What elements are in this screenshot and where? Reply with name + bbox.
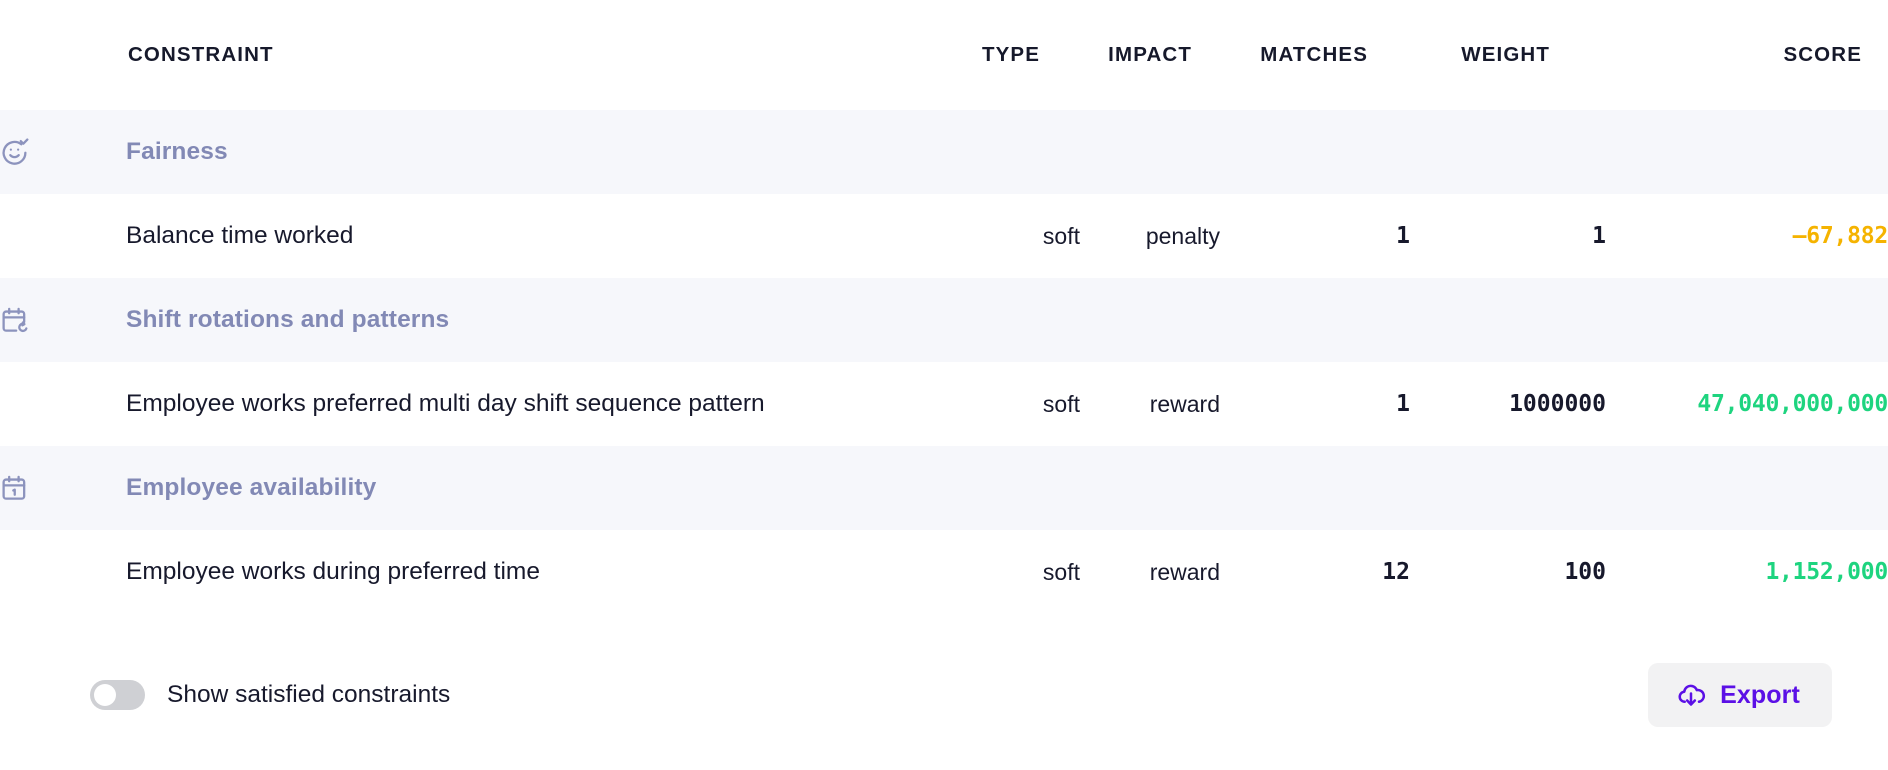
- table-body: Fairness Balance time worked soft penalt…: [0, 110, 1888, 614]
- constraint-table: CONSTRAINT TYPE IMPACT MATCHES WEIGHT SC…: [0, 0, 1888, 614]
- group-label: Fairness: [126, 138, 228, 165]
- export-button-label: Export: [1720, 681, 1800, 710]
- column-header-type[interactable]: TYPE: [948, 0, 1080, 110]
- header-spacer: [0, 0, 126, 110]
- constraint-weight: 1: [1410, 194, 1606, 278]
- column-header-constraint[interactable]: CONSTRAINT: [126, 0, 948, 110]
- column-header-impact[interactable]: IMPACT: [1080, 0, 1220, 110]
- row-indent: [0, 530, 126, 614]
- constraint-name: Employee works preferred multi day shift…: [126, 362, 948, 446]
- constraint-type: soft: [948, 530, 1080, 614]
- toggle-knob: [94, 684, 116, 706]
- table-header: CONSTRAINT TYPE IMPACT MATCHES WEIGHT SC…: [0, 0, 1888, 110]
- constraint-score: 47,040,000,000: [1606, 362, 1888, 446]
- table-row[interactable]: Balance time worked soft penalty 1 1 –67…: [0, 194, 1888, 278]
- constraint-type: soft: [948, 194, 1080, 278]
- table-row[interactable]: Employee works preferred multi day shift…: [0, 362, 1888, 446]
- constraint-weight: 1000000: [1410, 362, 1606, 446]
- column-header-weight[interactable]: WEIGHT: [1410, 0, 1606, 110]
- column-header-score[interactable]: SCORE: [1606, 0, 1888, 110]
- constraint-weight: 100: [1410, 530, 1606, 614]
- constraint-score: 1,152,000: [1606, 530, 1888, 614]
- constraint-analysis-panel: CONSTRAINT TYPE IMPACT MATCHES WEIGHT SC…: [0, 0, 1888, 770]
- constraint-score: –67,882: [1606, 194, 1888, 278]
- calendar-sync-icon: [0, 306, 29, 335]
- group-icon-cell: [0, 278, 126, 362]
- group-icon-cell: [0, 446, 126, 530]
- table-header-row: CONSTRAINT TYPE IMPACT MATCHES WEIGHT SC…: [0, 0, 1888, 110]
- constraint-impact: reward: [1080, 362, 1220, 446]
- table-footer: Show satisfied constraints Export: [0, 620, 1888, 770]
- group-label-cell: Fairness: [126, 110, 1888, 194]
- cloud-download-icon: [1676, 680, 1706, 710]
- group-label: Employee availability: [126, 474, 376, 501]
- group-label-cell: Employee availability: [126, 446, 1888, 530]
- constraint-impact: reward: [1080, 530, 1220, 614]
- smiley-check-icon: [0, 138, 29, 167]
- constraint-matches: 1: [1220, 362, 1410, 446]
- group-label: Shift rotations and patterns: [126, 306, 449, 333]
- show-satisfied-constraints-toggle[interactable]: [90, 680, 145, 710]
- row-indent: [0, 362, 126, 446]
- constraint-name: Employee works during preferred time: [126, 530, 948, 614]
- constraint-group-header[interactable]: Fairness: [0, 110, 1888, 194]
- column-header-matches[interactable]: MATCHES: [1220, 0, 1410, 110]
- constraint-impact: penalty: [1080, 194, 1220, 278]
- constraint-type: soft: [948, 362, 1080, 446]
- calendar-day-icon: [0, 474, 29, 503]
- group-label-cell: Shift rotations and patterns: [126, 278, 1888, 362]
- constraint-group-header[interactable]: Shift rotations and patterns: [0, 278, 1888, 362]
- group-icon-cell: [0, 110, 126, 194]
- toggle-label: Show satisfied constraints: [167, 681, 450, 709]
- constraint-matches: 12: [1220, 530, 1410, 614]
- row-indent: [0, 194, 126, 278]
- constraint-group-header[interactable]: Employee availability: [0, 446, 1888, 530]
- constraint-matches: 1: [1220, 194, 1410, 278]
- constraint-name: Balance time worked: [126, 194, 948, 278]
- export-button[interactable]: Export: [1648, 663, 1832, 727]
- show-satisfied-toggle-group[interactable]: Show satisfied constraints: [90, 680, 450, 710]
- table-row[interactable]: Employee works during preferred time sof…: [0, 530, 1888, 614]
